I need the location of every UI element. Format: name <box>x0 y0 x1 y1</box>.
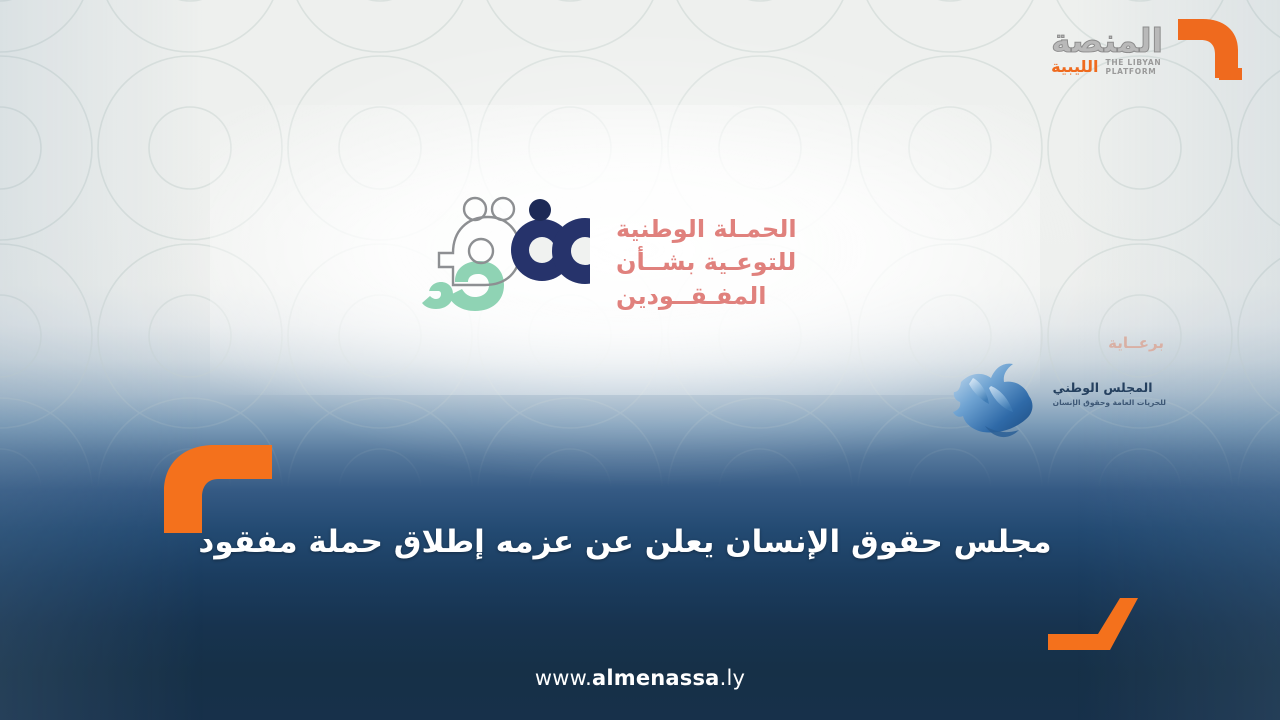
campaign-title-line3: المفـقــودين <box>616 282 766 310</box>
brand-name-arabic-secondary: الليبية <box>1051 59 1098 76</box>
news-card: المنصة THE LIBYAN PLATFORM الليبية <box>0 0 1280 720</box>
url-tld: .ly <box>720 666 746 690</box>
sponsor-name-line2: للحريات العامة وحقوق الإنسان <box>1053 398 1166 407</box>
website-url[interactable]: www.almenassa.ly <box>0 666 1280 690</box>
orange-quote-open-bracket-icon <box>158 437 278 535</box>
campaign-lockup: الحمـلة الوطنية للتوعـية بشــأن المفـقــ… <box>415 190 870 335</box>
page-title: مجلس حقوق الإنسان يعلن عن عزمه إطلاق حمل… <box>120 522 1130 562</box>
brand-wordmark: المنصة THE LIBYAN PLATFORM الليبية <box>1051 24 1163 77</box>
brand-en-line2: PLATFORM <box>1106 67 1157 76</box>
brand-logo[interactable]: المنصة THE LIBYAN PLATFORM الليبية <box>1051 16 1246 84</box>
brand-name-arabic: المنصة <box>1051 24 1163 57</box>
brand-name-english: THE LIBYAN PLATFORM <box>1106 58 1162 77</box>
campaign-title-line1: الحمـلة الوطنية <box>616 215 797 243</box>
sponsor-name-line1: المجلس الوطني <box>1053 380 1153 395</box>
sponsor-kicker: برعــاية <box>1108 334 1164 352</box>
brand-en-line1: THE LIBYAN <box>1106 58 1162 67</box>
menassa-orange-bracket-icon <box>1172 16 1246 84</box>
orange-quote-close-bracket-icon <box>1046 596 1142 652</box>
mafqoud-campaign-logo-icon <box>415 193 590 333</box>
dove-national-council-icon <box>951 356 1047 444</box>
sponsor-block: برعــاية <box>935 330 1170 448</box>
sponsor-names: المجلس الوطني للحريات العامة وحقوق الإنس… <box>1053 380 1166 407</box>
campaign-title: الحمـلة الوطنية للتوعـية بشــأن المفـقــ… <box>616 215 797 310</box>
url-prefix: www. <box>535 666 592 690</box>
url-name: almenassa <box>592 666 720 690</box>
campaign-title-line2: للتوعـية بشــأن <box>616 248 796 276</box>
